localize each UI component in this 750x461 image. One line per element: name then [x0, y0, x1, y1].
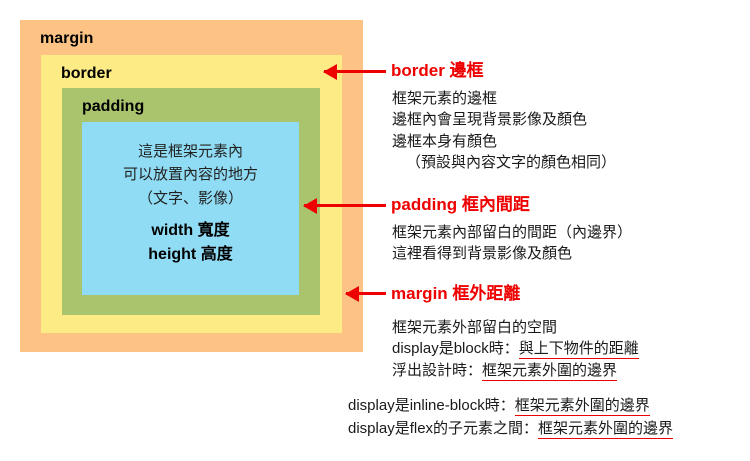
- content-height-label: height 高度: [82, 243, 299, 267]
- arrow-to-border: [324, 70, 386, 73]
- padding-note-1: 框架元素內部留白的間距（內邊界）: [392, 222, 632, 243]
- content-width-label: width 寬度: [82, 219, 299, 243]
- annotation-heading-margin: margin 框外距離: [391, 285, 520, 302]
- annotation-heading-border: border 邊框: [391, 62, 484, 79]
- footer-note-2-underlined: 框架元素外圍的邊界: [538, 420, 673, 439]
- margin-note-3: 浮出設計時：框架元素外圍的邊界: [392, 360, 639, 381]
- content-box-text: 這是框架元素內 可以放置內容的地方 （文字、影像） width 寬度 heigh…: [82, 140, 299, 267]
- content-line-2: 可以放置內容的地方: [123, 166, 258, 183]
- footer-notes: display是inline-block時：框架元素外圍的邊界 display是…: [348, 395, 673, 440]
- border-note-1: 框架元素的邊框: [392, 88, 616, 109]
- border-note-4: （預設與內容文字的顏色相同）: [392, 152, 616, 173]
- footer-note-1-underlined: 框架元素外圍的邊界: [515, 397, 650, 416]
- margin-note-2: display是block時：與上下物件的距離: [392, 338, 639, 359]
- content-box: 這是框架元素內 可以放置內容的地方 （文字、影像） width 寬度 heigh…: [82, 122, 299, 295]
- padding-note-2: 這裡看得到背景影像及顏色: [392, 243, 632, 264]
- arrow-to-margin: [346, 292, 386, 295]
- border-box: border padding 這是框架元素內 可以放置內容的地方 （文字、影像）…: [41, 55, 342, 333]
- footer-note-2: display是flex的子元素之間：框架元素外圍的邊界: [348, 418, 673, 441]
- margin-note-2-prefix: display是block時：: [392, 340, 519, 357]
- footer-note-1: display是inline-block時：框架元素外圍的邊界: [348, 395, 673, 418]
- margin-note-2-underlined: 與上下物件的距離: [519, 340, 639, 359]
- annotation-body-border: 框架元素的邊框 邊框內會呈現背景影像及顏色 邊框本身有顏色 （預設與內容文字的顏…: [392, 88, 616, 173]
- border-note-2: 邊框內會呈現背景影像及顏色: [392, 109, 616, 130]
- border-box-label: border: [61, 66, 112, 82]
- arrow-to-padding: [304, 204, 386, 207]
- margin-note-3-prefix: 浮出設計時：: [392, 362, 482, 379]
- box-model-diagram-page: margin border padding 這是框架元素內 可以放置內容的地方 …: [0, 0, 750, 461]
- padding-box-label: padding: [82, 99, 144, 115]
- margin-note-3-underlined: 框架元素外圍的邊界: [482, 362, 617, 381]
- margin-box: margin border padding 這是框架元素內 可以放置內容的地方 …: [20, 20, 363, 352]
- border-note-3: 邊框本身有顏色: [392, 131, 616, 152]
- content-line-1: 這是框架元素內: [138, 143, 243, 160]
- annotation-body-padding: 框架元素內部留白的間距（內邊界） 這裡看得到背景影像及顏色: [392, 222, 632, 265]
- content-line-3: （文字、影像）: [138, 190, 243, 207]
- annotation-heading-padding: padding 框內間距: [391, 196, 530, 213]
- margin-note-1: 框架元素外部留白的空間: [392, 317, 639, 338]
- padding-box: padding 這是框架元素內 可以放置內容的地方 （文字、影像） width …: [62, 88, 320, 315]
- annotation-body-margin: 框架元素外部留白的空間 display是block時：與上下物件的距離 浮出設計…: [392, 317, 639, 381]
- footer-note-2-prefix: display是flex的子元素之間：: [348, 420, 538, 437]
- footer-note-1-prefix: display是inline-block時：: [348, 397, 515, 414]
- margin-box-label: margin: [40, 31, 93, 47]
